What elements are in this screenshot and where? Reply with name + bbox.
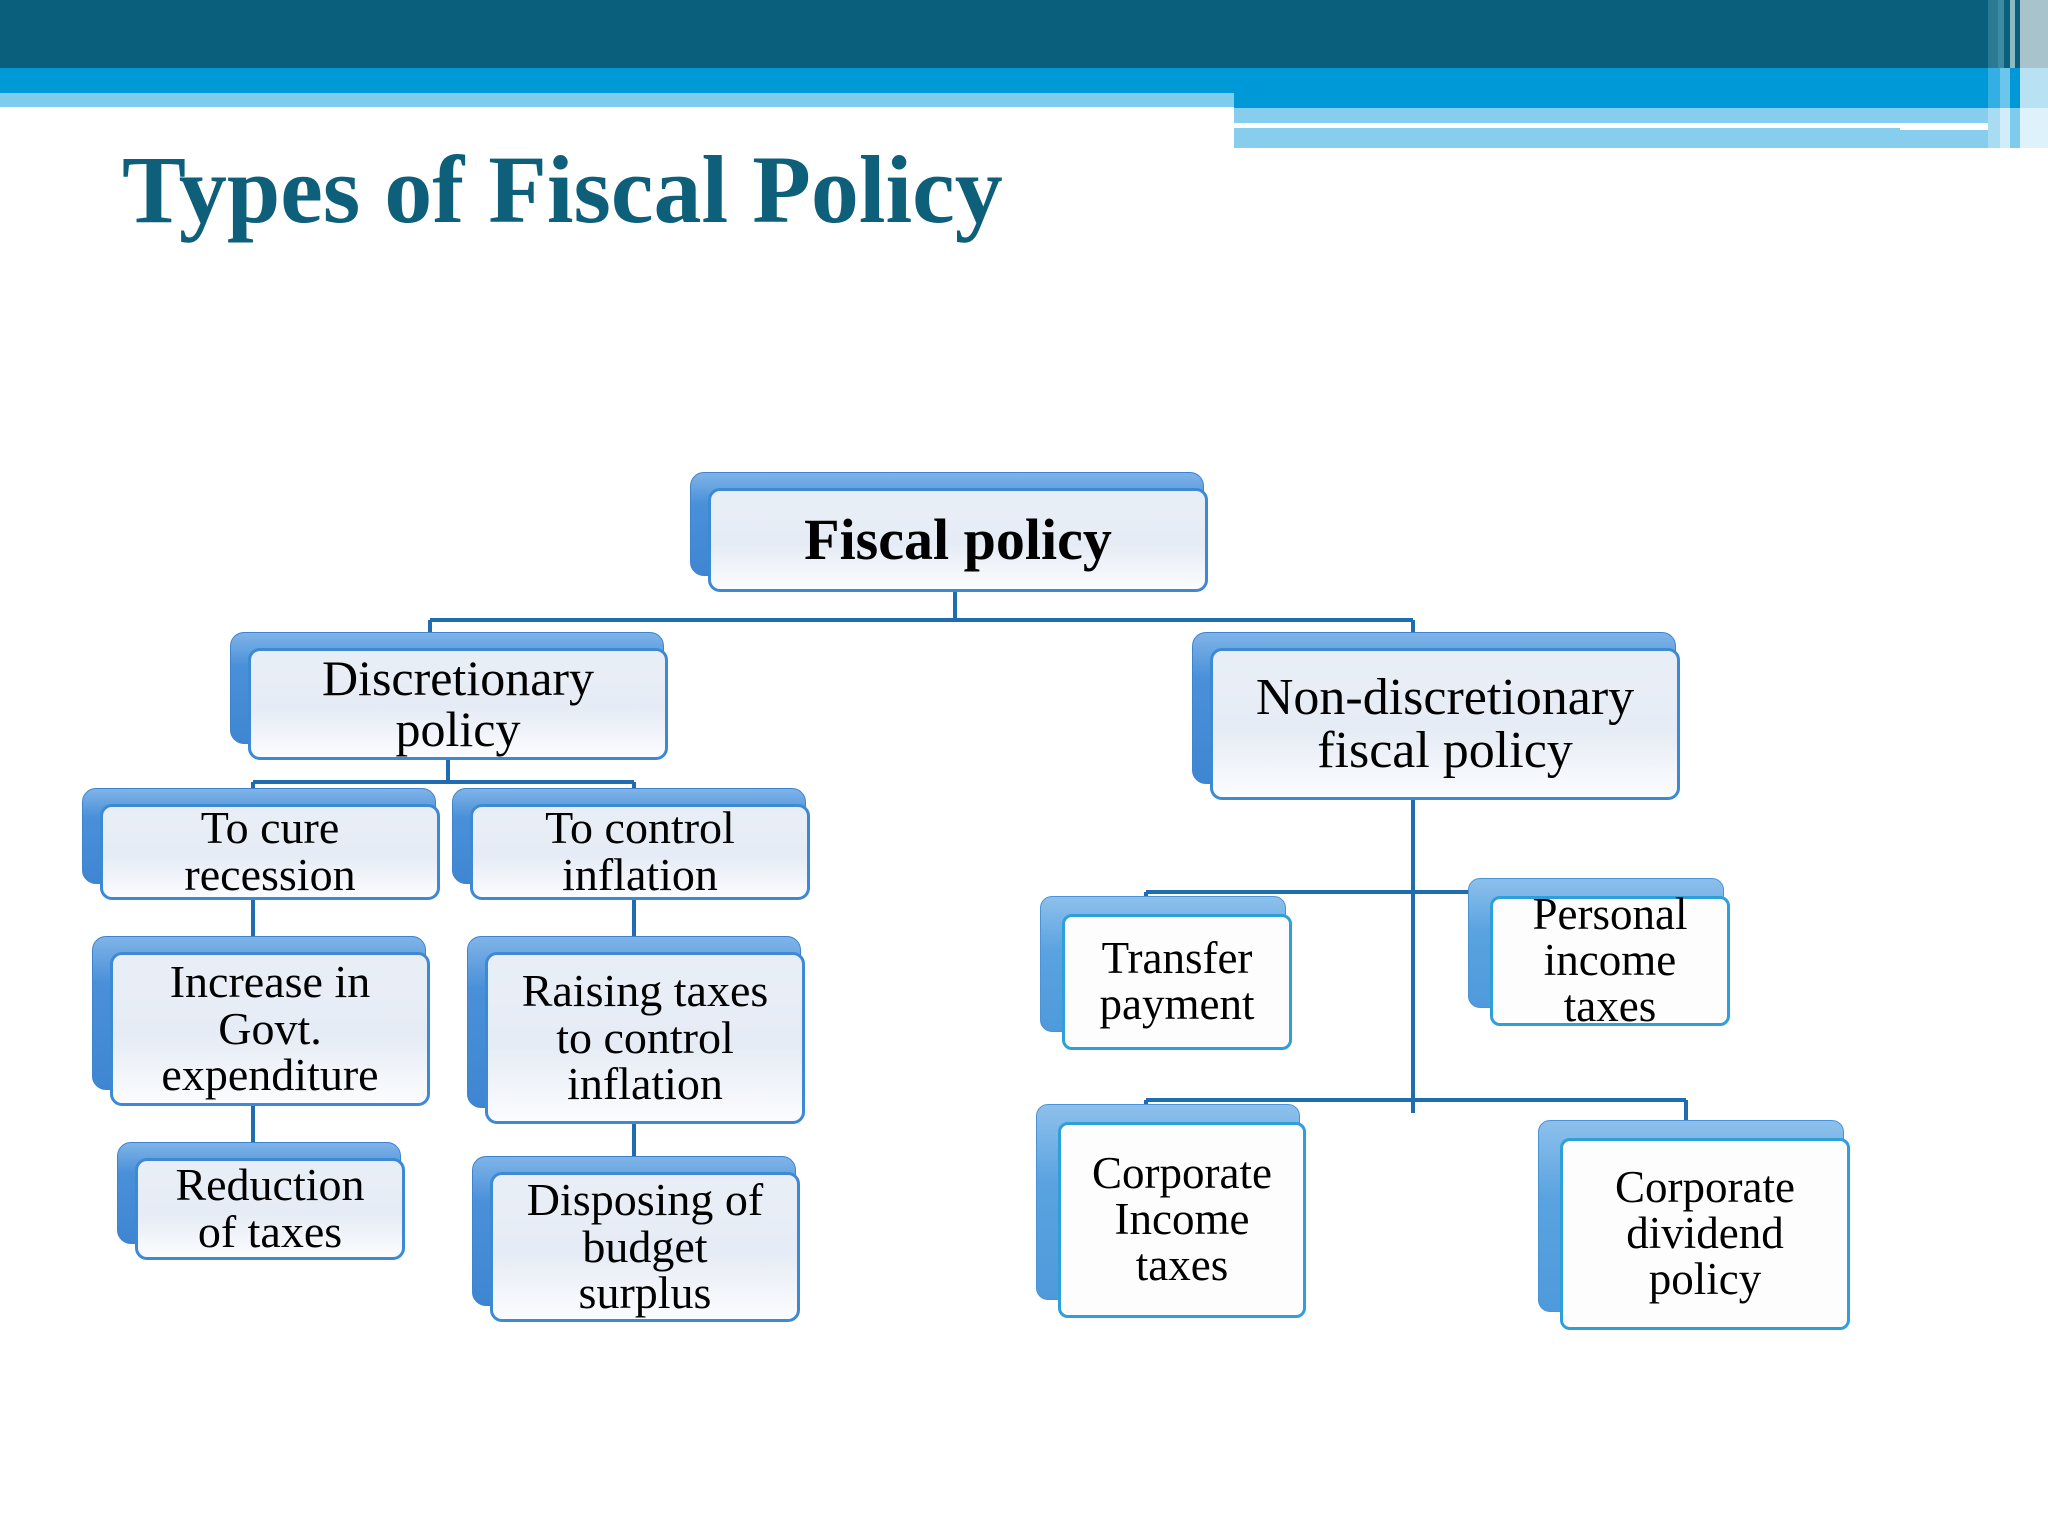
fiscal-policy-tree-diagram: Fiscal policy Discretionary policy Non-d… [0, 0, 2048, 1536]
node-label: Non-discretionary fiscal policy [1252, 671, 1638, 777]
node-label: Discretionary policy [318, 653, 598, 755]
node-label: Raising taxes to control inflation [518, 968, 773, 1109]
node-face: Reduction of taxes [135, 1158, 405, 1260]
node-corporate-dividend-policy[interactable]: Corporate dividend policy [1560, 1138, 1850, 1330]
node-face: Disposing of budget surplus [490, 1172, 800, 1322]
node-label: Corporate Income taxes [1088, 1151, 1276, 1289]
node-transfer-payment[interactable]: Transfer payment [1062, 914, 1292, 1050]
node-face: Increase in Govt. expenditure [110, 952, 430, 1106]
node-non-discretionary-fiscal-policy[interactable]: Non-discretionary fiscal policy [1210, 648, 1680, 800]
node-raising-taxes-control-inflation[interactable]: Raising taxes to control inflation [485, 952, 805, 1124]
node-label: To cure recession [180, 805, 359, 899]
node-face: Raising taxes to control inflation [485, 952, 805, 1124]
node-face: To cure recession [100, 804, 440, 900]
node-face: Transfer payment [1062, 914, 1292, 1050]
node-face: To control inflation [470, 804, 810, 900]
node-label: Corporate dividend policy [1611, 1165, 1799, 1303]
node-corporate-income-taxes[interactable]: Corporate Income taxes [1058, 1122, 1306, 1318]
node-label: Disposing of budget surplus [523, 1177, 767, 1318]
node-disposing-budget-surplus[interactable]: Disposing of budget surplus [490, 1172, 800, 1322]
node-face: Personal income taxes [1490, 896, 1730, 1026]
node-increase-govt-expenditure[interactable]: Increase in Govt. expenditure [110, 952, 430, 1106]
node-label: To control inflation [541, 805, 739, 899]
node-face: Corporate Income taxes [1058, 1122, 1306, 1318]
node-personal-income-taxes[interactable]: Personal income taxes [1490, 896, 1730, 1026]
node-reduction-of-taxes[interactable]: Reduction of taxes [135, 1158, 405, 1260]
node-label: Reduction of taxes [171, 1162, 368, 1256]
node-label: Increase in Govt. expenditure [157, 959, 382, 1100]
node-to-control-inflation[interactable]: To control inflation [470, 804, 810, 900]
node-label: Fiscal policy [800, 510, 1116, 569]
node-to-cure-recession[interactable]: To cure recession [100, 804, 440, 900]
node-face: Non-discretionary fiscal policy [1210, 648, 1680, 800]
node-discretionary-policy[interactable]: Discretionary policy [248, 648, 668, 760]
node-label: Personal income taxes [1529, 892, 1692, 1030]
node-face: Discretionary policy [248, 648, 668, 760]
node-label: Transfer payment [1096, 936, 1259, 1028]
node-face: Corporate dividend policy [1560, 1138, 1850, 1330]
node-face: Fiscal policy [708, 488, 1208, 592]
node-fiscal-policy[interactable]: Fiscal policy [708, 488, 1208, 592]
